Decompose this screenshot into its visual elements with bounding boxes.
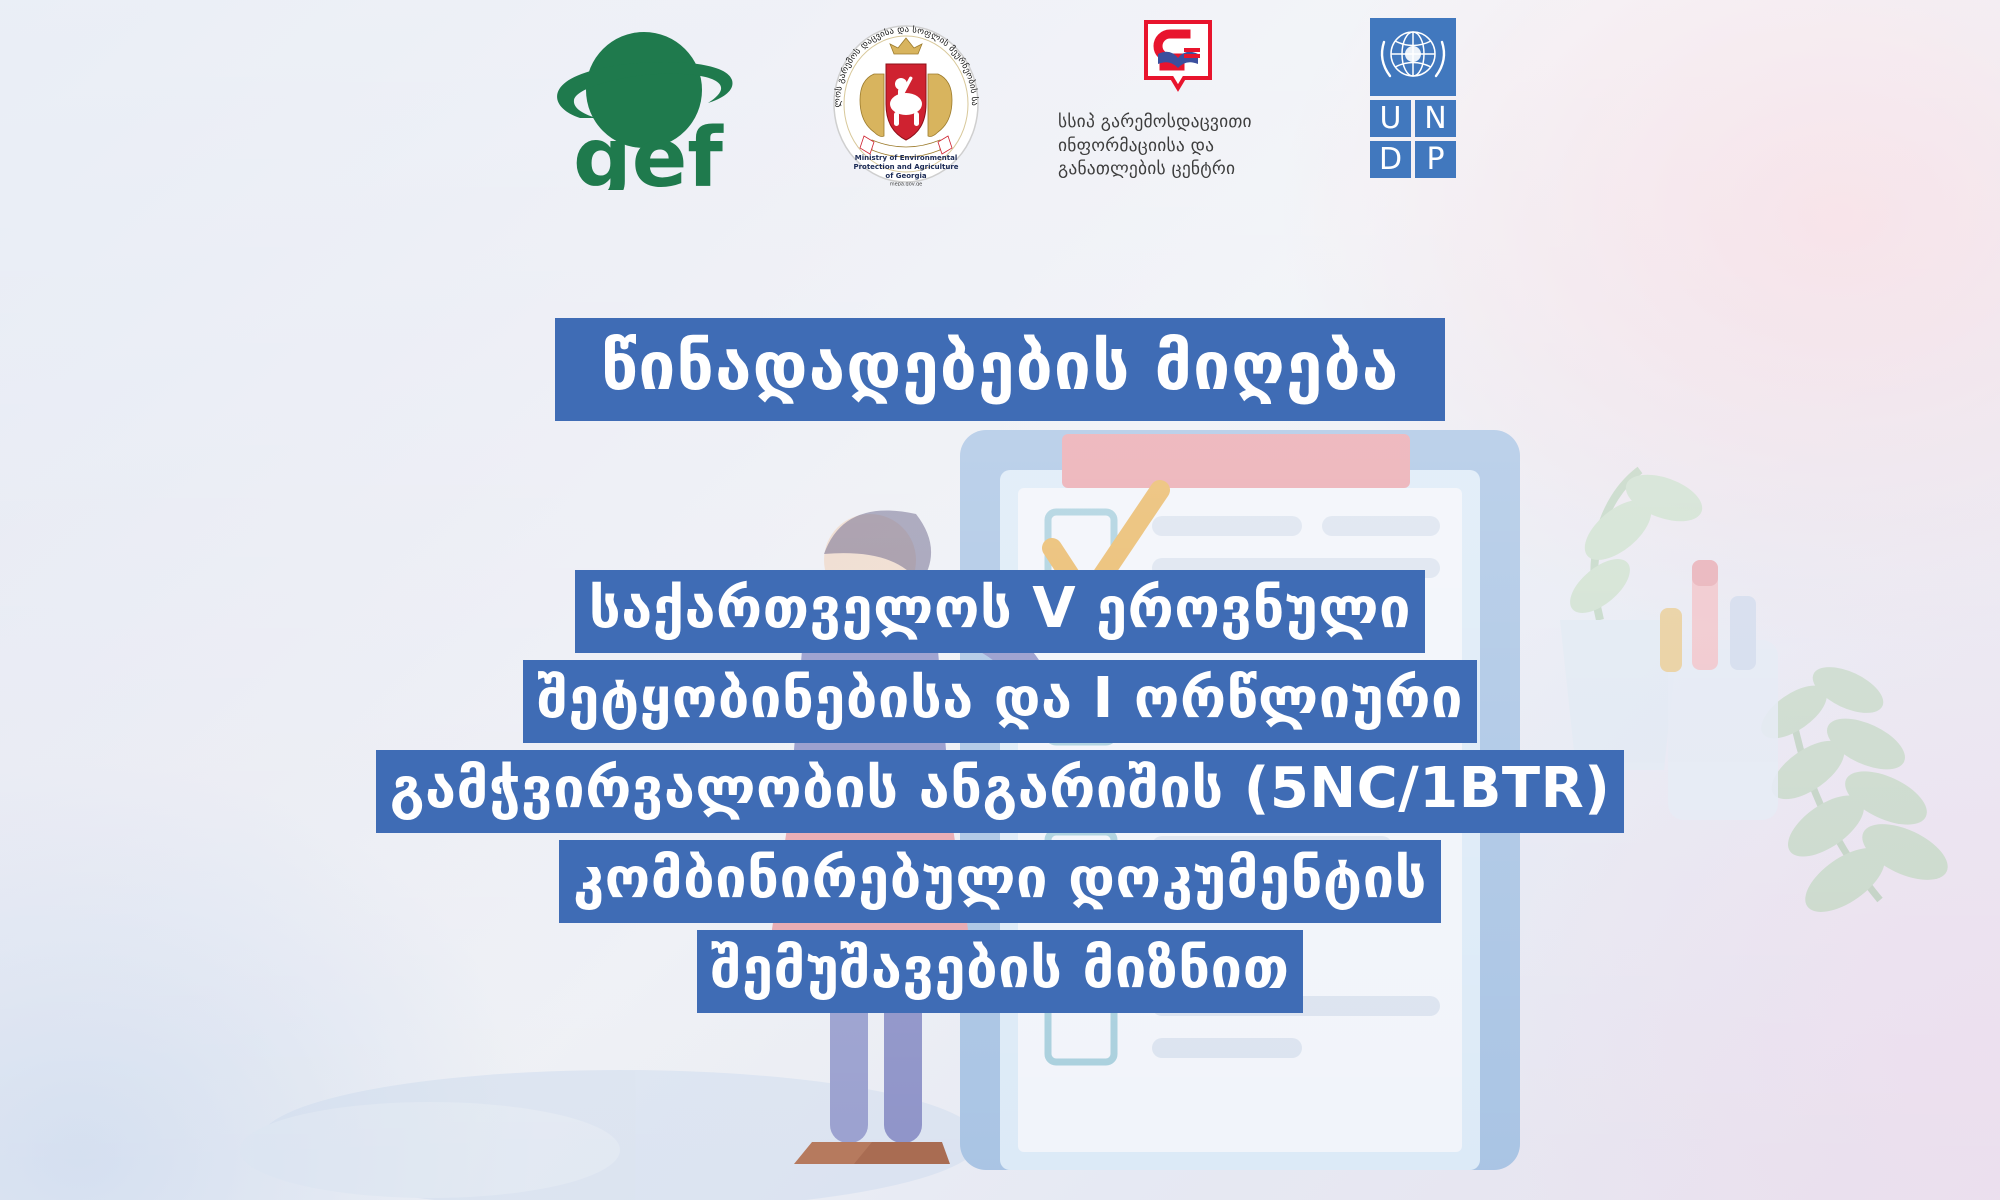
eiec-name-line-1: სსიპ გარემოსდაცვითი xyxy=(1058,111,1298,135)
poster-canvas: gef საქართველოს გარემოს დაცვისა და სოფლი… xyxy=(0,0,2000,1200)
gef-logo-icon: gef xyxy=(544,18,754,190)
eiec-shield-icon xyxy=(1142,18,1214,103)
body-line: შემუშავების მიზნით xyxy=(0,930,2000,1013)
body-line-text: გამჭვირვალობის ანგარიშის (5NC/1BTR) xyxy=(376,750,1625,833)
body-line-text: შეტყობინებისა და I ორწლიური xyxy=(523,660,1477,743)
eiec-name-text: სსიპ გარემოსდაცვითი ინფორმაციისა და განა… xyxy=(1058,111,1298,182)
eiec-name-line-2: ინფორმაციისა და xyxy=(1058,135,1298,159)
ministry-caption-line-2: Protection and Agriculture xyxy=(853,163,958,171)
body-line: საქართველოს V ეროვნული xyxy=(0,570,2000,653)
cloud-shape xyxy=(240,1070,980,1200)
body-line-text: საქართველოს V ეროვნული xyxy=(575,570,1425,653)
logo-eiec: სსიპ გარემოსდაცვითი ინფორმაციისა და განა… xyxy=(1058,18,1298,182)
logo-gef: gef xyxy=(544,18,754,194)
gef-wordmark: gef xyxy=(573,111,724,190)
logo-ministry: საქართველოს გარემოს დაცვისა და სოფლის მე… xyxy=(826,18,986,190)
ministry-seal-icon: საქართველოს გარემოს დაცვისა და სოფლის მე… xyxy=(826,18,986,186)
undp-logo-icon: U N D P xyxy=(1370,18,1456,178)
undp-letter-u: U xyxy=(1380,101,1402,136)
body-line-text: კომბინირებული დოკუმენტის xyxy=(559,840,1441,923)
body-line: შეტყობინებისა და I ორწლიური xyxy=(0,660,2000,743)
page-title: წინადადებების მიღება xyxy=(555,318,1446,421)
undp-letter-n: N xyxy=(1424,101,1446,136)
body-line-text: შემუშავების მიზნით xyxy=(697,930,1304,1013)
undp-letter-p: P xyxy=(1426,142,1444,177)
ministry-caption-line-3: of Georgia xyxy=(885,172,926,180)
eiec-name-line-3: განათლების ცენტრი xyxy=(1058,158,1298,182)
ministry-caption-line-1: Ministry of Environmental xyxy=(855,154,957,162)
ministry-url: mepa.gov.ge xyxy=(890,182,922,187)
body-text-container: საქართველოს V ეროვნული შეტყობინებისა და … xyxy=(0,570,2000,1020)
body-line: გამჭვირვალობის ანგარიშის (5NC/1BTR) xyxy=(0,750,2000,833)
body-line: კომბინირებული დოკუმენტის xyxy=(0,840,2000,923)
logo-undp: U N D P xyxy=(1370,18,1456,182)
undp-letter-d: D xyxy=(1379,142,1402,177)
logo-bar: gef საქართველოს გარემოს დაცვისა და სოფლი… xyxy=(0,18,2000,198)
headline-container: წინადადებების მიღება xyxy=(0,318,2000,421)
